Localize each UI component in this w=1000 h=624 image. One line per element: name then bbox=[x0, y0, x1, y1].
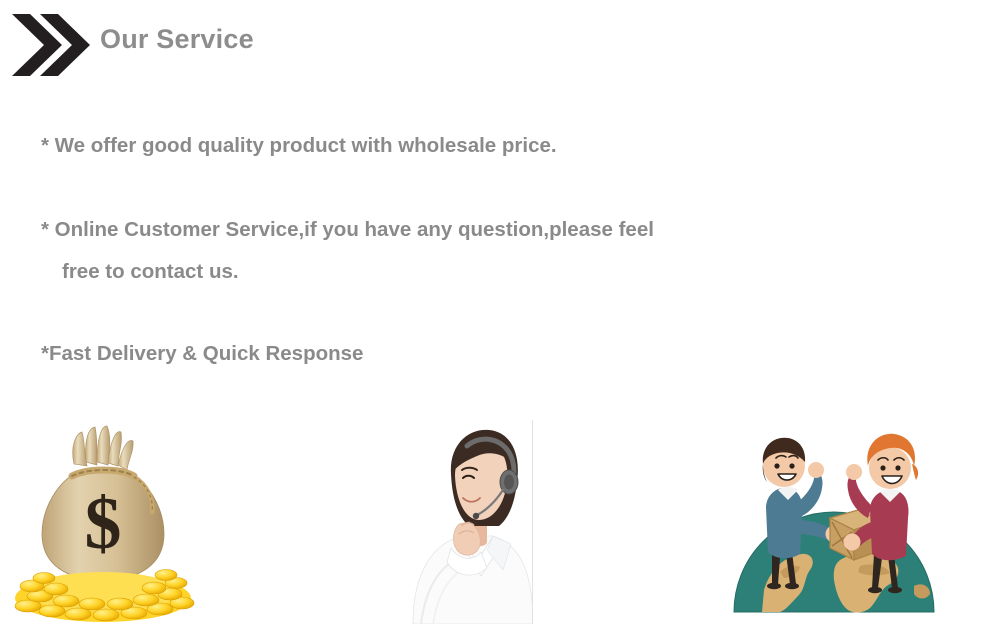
service-item-quality-price: * We offer good quality product with who… bbox=[41, 125, 941, 167]
service-illustrations: $ bbox=[0, 420, 1000, 624]
service-highlights-list: * We offer good quality product with who… bbox=[41, 125, 941, 375]
dollar-symbol: $ bbox=[85, 483, 122, 565]
headset-agent-photo bbox=[407, 420, 533, 624]
page-header: Our Service bbox=[0, 0, 1000, 95]
service-item-line: * Online Customer Service,if you have an… bbox=[41, 218, 654, 241]
service-item-line: * We offer good quality product with who… bbox=[41, 134, 557, 157]
service-item-fast-delivery: *Fast Delivery & Quick Response bbox=[41, 333, 941, 375]
globe-delivery-illustration bbox=[728, 420, 940, 624]
service-item-line: *Fast Delivery & Quick Response bbox=[41, 342, 363, 365]
money-bag-illustration: $ bbox=[8, 420, 203, 624]
service-item-line-continued: free to contact us. bbox=[41, 251, 941, 293]
double-chevron-right-icon bbox=[8, 10, 90, 80]
page-title: Our Service bbox=[100, 24, 254, 55]
service-item-online-customer-service: * Online Customer Service,if you have an… bbox=[41, 209, 941, 293]
